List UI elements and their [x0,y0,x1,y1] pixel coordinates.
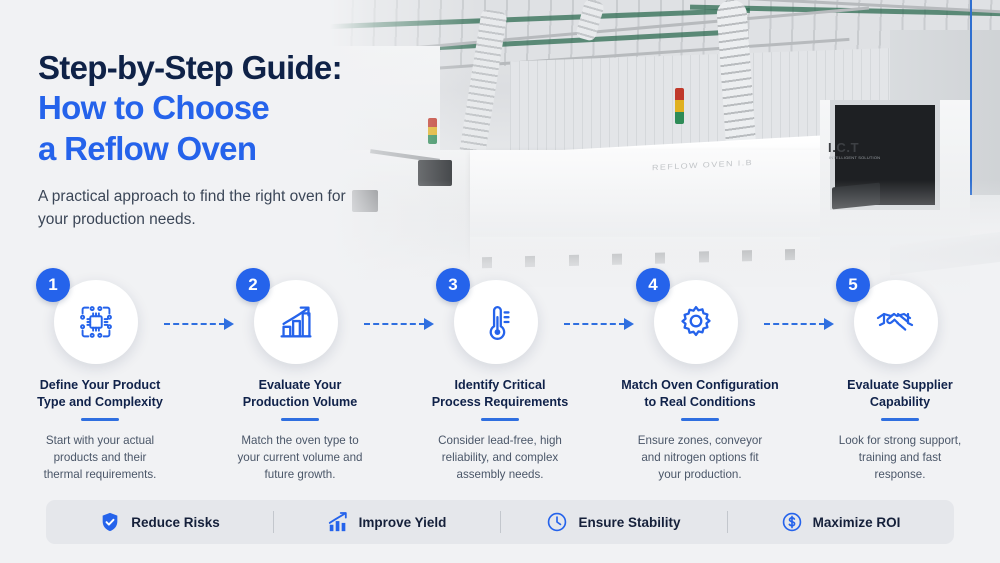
step-2-icon-wrap: 2 [254,272,346,364]
step-5-description: Look for strong support, training and fa… [839,433,961,483]
step-2[interactable]: 2 Evaluate Your Production Volume Match … [200,272,400,484]
bar-chart-arrow-icon [327,511,349,533]
circuit-chip-icon [73,299,119,345]
benefit-reduce-risks[interactable]: Reduce Risks [46,500,273,544]
step-5-number-badge: 5 [836,268,870,302]
step-2-divider [281,418,319,421]
step-1-divider [81,418,119,421]
thermometer-icon [473,299,519,345]
page-subtitle: A practical approach to find the right o… [38,185,368,232]
infographic-canvas: REFLOW OVEN I.B I.C.T INTELLIGENT SOLUTI… [0,0,1000,563]
growth-bar-chart-icon [273,299,319,345]
step-5-title: Evaluate Supplier Capability [847,377,953,410]
step-2-title: Evaluate Your Production Volume [243,377,358,410]
page-title-line-2: How to Choose [38,88,458,128]
benefit-ensure-stability[interactable]: Ensure Stability [500,500,727,544]
step-1[interactable]: 1 Define Your Product Type and Complexit… [0,272,200,484]
page-title-line-3: a Reflow Oven [38,129,458,169]
benefit-maximize-roi[interactable]: Maximize ROI [727,500,954,544]
step-2-number-badge: 2 [236,268,270,302]
step-5-divider [881,418,919,421]
step-1-number-badge: 1 [36,268,70,302]
step-3-divider [481,418,519,421]
clock-icon [546,511,568,533]
step-4-number-badge: 4 [636,268,670,302]
step-1-description: Start with your actual products and thei… [44,433,157,483]
step-4-icon-wrap: 4 [654,272,746,364]
step-3-description: Consider lead-free, high reliability, an… [438,433,562,483]
benefits-bar: Reduce Risks Improve Yield Ensure Stabil… [46,500,954,544]
step-3-icon-wrap: 3 [454,272,546,364]
benefit-label: Improve Yield [359,515,447,530]
shield-check-icon [99,511,121,533]
step-3-title: Identify Critical Process Requirements [432,377,569,410]
page-title-line-1: Step-by-Step Guide: [38,48,458,88]
step-3-number-badge: 3 [436,268,470,302]
step-5[interactable]: 5 Evaluate Supplier Capability Look for … [800,272,1000,484]
step-1-title: Define Your Product Type and Complexity [37,377,163,410]
handshake-icon [872,298,920,346]
gear-icon [673,299,719,345]
step-4-divider [681,418,719,421]
step-4-title: Match Oven Configuration to Real Conditi… [621,377,778,410]
benefit-label: Reduce Risks [131,515,220,530]
step-4-description: Ensure zones, conveyor and nitrogen opti… [638,433,762,483]
benefit-label: Ensure Stability [578,515,680,530]
step-1-icon-wrap: 1 [54,272,146,364]
benefit-label: Maximize ROI [813,515,901,530]
benefit-improve-yield[interactable]: Improve Yield [273,500,500,544]
step-2-description: Match the oven type to your current volu… [237,433,362,483]
step-5-icon-wrap: 5 [854,272,946,364]
steps-row: 1 Define Your Product Type and Complexit… [0,272,1000,484]
step-4[interactable]: 4 Match Oven Configuration to Real Condi… [600,272,800,484]
step-3[interactable]: 3 Identify Critical Process Requirements… [400,272,600,484]
header: Step-by-Step Guide: How to Choose a Refl… [38,48,458,231]
dollar-circle-icon [781,511,803,533]
